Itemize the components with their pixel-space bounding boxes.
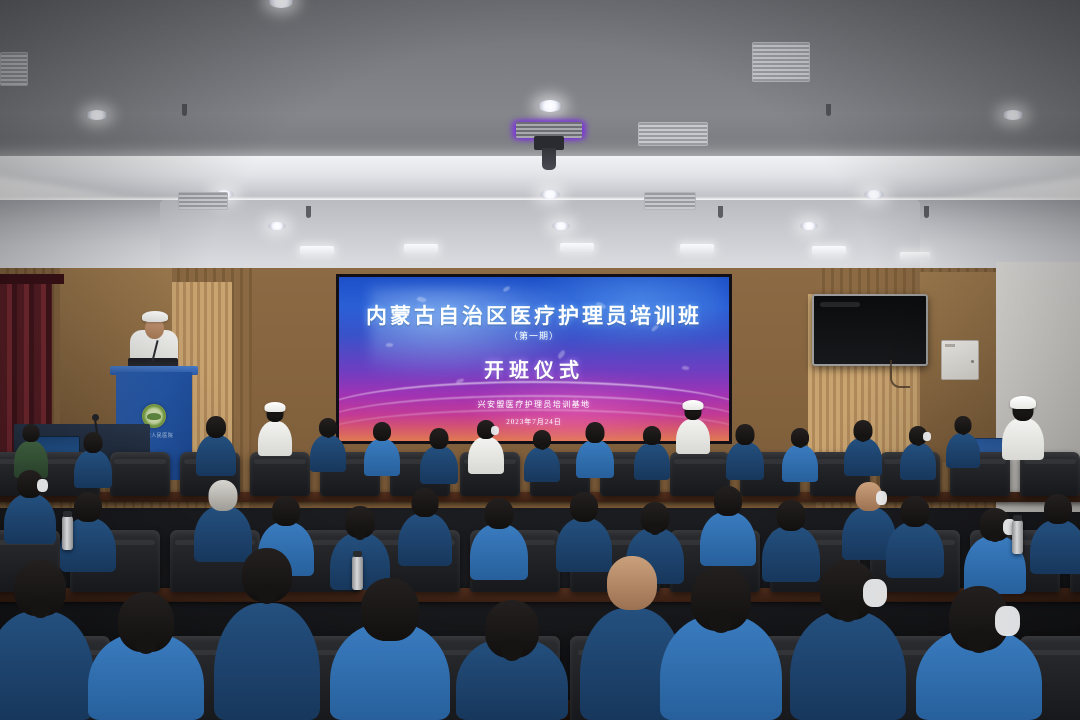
person-head xyxy=(643,426,661,445)
nurse-cap-icon xyxy=(683,400,704,410)
hair-bun xyxy=(501,639,523,661)
person-head xyxy=(430,428,449,449)
audience-person xyxy=(524,430,560,482)
person-head xyxy=(570,492,598,522)
face-mask-icon xyxy=(923,432,931,441)
person-torso xyxy=(364,439,400,476)
person-head xyxy=(777,500,806,531)
audience-person xyxy=(74,432,112,488)
person-head xyxy=(714,486,742,516)
person-head xyxy=(84,432,103,453)
person-torso xyxy=(946,433,980,468)
person-torso xyxy=(74,450,112,488)
person-head xyxy=(607,556,657,610)
person-torso xyxy=(790,611,906,720)
person-head xyxy=(412,488,439,517)
audience-person xyxy=(470,498,528,580)
water-bottle[interactable] xyxy=(1012,520,1023,554)
hair-bun xyxy=(709,609,733,633)
audience-person xyxy=(700,486,756,566)
hair-bun xyxy=(915,439,922,446)
person-torso xyxy=(1002,418,1044,460)
person-torso xyxy=(420,446,458,484)
person-head xyxy=(206,416,226,438)
person-torso xyxy=(258,421,292,456)
audience-person xyxy=(310,418,346,472)
hair-bun xyxy=(837,600,859,622)
audience-person xyxy=(900,426,936,480)
audience-area xyxy=(0,0,1080,720)
person-head xyxy=(1044,494,1072,524)
face-mask-icon xyxy=(995,606,1020,636)
audience-person xyxy=(916,586,1042,720)
audience-person xyxy=(676,402,710,454)
person-head xyxy=(901,496,930,527)
hair-bun xyxy=(967,629,991,653)
face-mask-icon xyxy=(863,579,887,607)
conference-hall-photo: 内蒙古自治区医疗护理员培训班 （第一期） 开班仪式 兴安盟医疗护理员培训基地 2… xyxy=(0,0,1080,720)
person-torso xyxy=(470,524,528,580)
person-head xyxy=(74,492,102,522)
audience-person xyxy=(0,560,94,720)
hair-bun xyxy=(354,528,366,540)
hair-bun xyxy=(649,523,661,535)
audience-person xyxy=(576,422,614,478)
person-torso xyxy=(4,494,56,544)
audience-person xyxy=(214,548,320,720)
audience-person xyxy=(330,578,450,720)
face-mask-icon xyxy=(491,426,499,435)
person-torso xyxy=(1030,520,1080,574)
audience-person xyxy=(398,488,452,566)
person-head xyxy=(485,498,514,529)
person-torso xyxy=(634,443,670,480)
hair-bun xyxy=(325,431,332,438)
person-head xyxy=(736,424,755,445)
water-bottle[interactable] xyxy=(62,516,73,550)
person-torso xyxy=(524,447,560,482)
person-torso xyxy=(214,603,320,720)
person-torso xyxy=(676,419,710,454)
person-torso xyxy=(726,442,764,480)
hair-bun xyxy=(989,530,1001,542)
person-torso xyxy=(782,445,818,482)
audience-person xyxy=(196,416,236,476)
audience-person xyxy=(790,560,906,720)
audience-person xyxy=(946,416,980,468)
hair-bun xyxy=(257,584,277,604)
person-head xyxy=(361,578,419,641)
audience-person xyxy=(660,566,782,720)
face-mask-icon xyxy=(37,479,48,492)
person-torso xyxy=(844,438,882,476)
audience-person xyxy=(364,422,400,476)
hair-bun xyxy=(960,428,967,435)
person-torso xyxy=(900,443,936,480)
hair-bun xyxy=(30,597,51,618)
hair-bun xyxy=(859,434,867,442)
audience-person xyxy=(88,592,204,720)
person-torso xyxy=(398,513,452,566)
audience-person xyxy=(726,424,764,480)
audience-person xyxy=(634,426,670,480)
hair-bun xyxy=(797,441,804,448)
audience-person xyxy=(1002,398,1044,460)
audience-chair[interactable] xyxy=(110,452,170,496)
person-torso xyxy=(468,437,504,474)
audience-person xyxy=(420,428,458,484)
audience-person xyxy=(258,404,292,456)
person-head xyxy=(23,424,40,442)
audience-person xyxy=(456,600,568,720)
person-head xyxy=(373,422,391,441)
person-torso xyxy=(196,435,236,476)
hair-bun xyxy=(135,632,157,654)
person-head xyxy=(209,480,238,511)
audience-person xyxy=(782,428,818,482)
nurse-cap-icon xyxy=(265,402,286,412)
nurse-cap-icon xyxy=(1010,396,1036,409)
hair-bun xyxy=(539,443,546,450)
person-torso xyxy=(310,435,346,472)
person-torso xyxy=(0,611,94,720)
audience-person xyxy=(1030,494,1080,574)
person-torso xyxy=(576,440,614,478)
audience-chair[interactable] xyxy=(250,452,310,496)
person-torso xyxy=(700,512,756,566)
person-head xyxy=(586,422,605,443)
audience-person xyxy=(468,420,504,474)
audience-person xyxy=(844,420,882,476)
audience-person xyxy=(4,470,56,544)
person-head xyxy=(272,496,300,526)
